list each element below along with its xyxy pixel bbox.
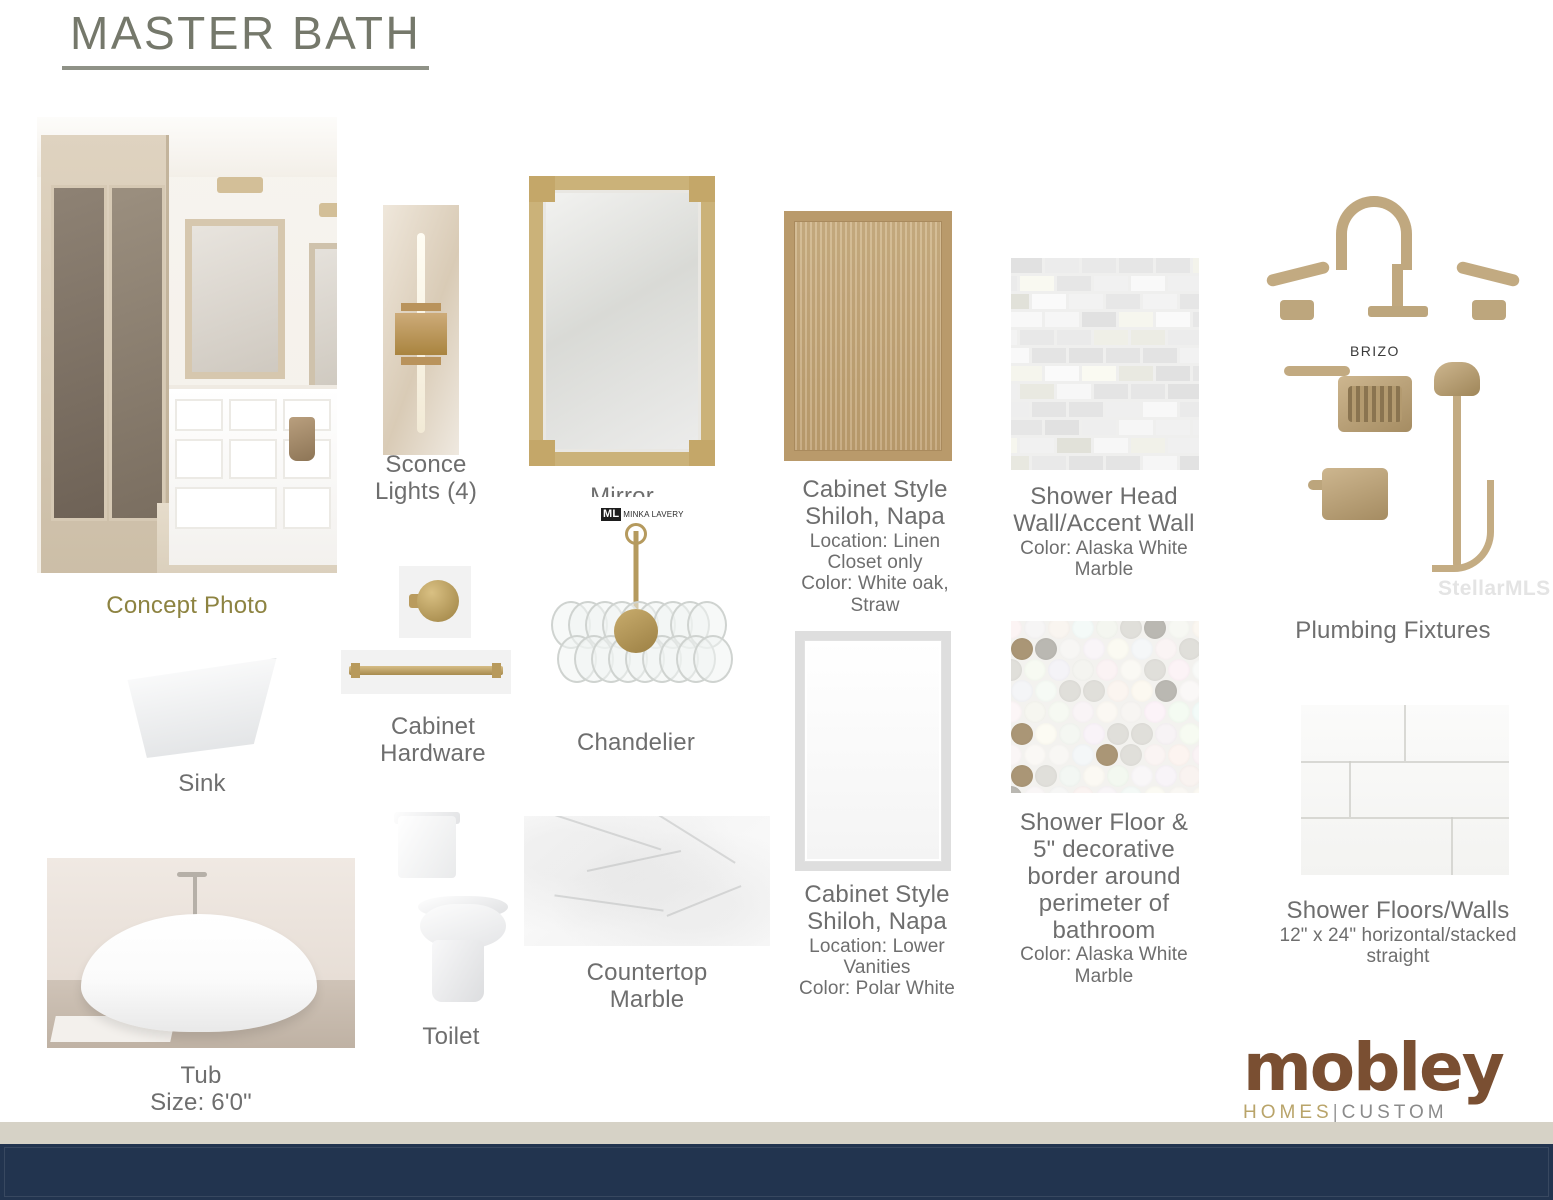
mobley-custom-text: CUSTOM	[1342, 1102, 1448, 1123]
tub-label: Tub Size: 6'0"	[47, 1063, 355, 1117]
countertop-marble-image	[524, 816, 770, 946]
page-title: MASTER BATH	[62, 6, 429, 70]
shower-head-wall-label: Shower Head Wall/Accent Wall Color: Alas…	[1000, 484, 1208, 580]
plumbing-fixtures-image	[1248, 180, 1538, 598]
countertop-label: Countertop Marble	[524, 960, 770, 1014]
chandelier-label: Chandelier	[527, 730, 745, 757]
accent-wall-tile-image	[1011, 258, 1199, 470]
concept-photo-image	[37, 117, 337, 573]
mirror-image	[529, 176, 715, 466]
sink-label: Sink	[113, 771, 291, 798]
tub-image	[47, 858, 355, 1048]
shower-floors-walls-label: Shower Floors/Walls 12" x 24" horizontal…	[1248, 898, 1548, 967]
shower-floors-walls-tile-image	[1301, 705, 1509, 875]
toilet-label: Toilet	[392, 1024, 510, 1051]
footer-beige-bar	[0, 1122, 1553, 1144]
stellarmls-watermark: StellarMLS	[1438, 577, 1551, 601]
shower-floor-tile-image	[1011, 621, 1199, 793]
sink-image	[113, 650, 291, 768]
mobley-logo: mobley HOMES|CUSTOM	[1243, 1037, 1533, 1124]
cabinet-pull-image	[341, 650, 511, 694]
chandelier-image	[527, 497, 745, 712]
mobley-homes-text: HOMES	[1243, 1102, 1333, 1123]
sconce-label: Sconce Lights (4)	[341, 452, 511, 506]
brizo-brand-label: BRIZO	[1350, 343, 1400, 359]
minka-lavery-watermark: ML MINKA LAVERY	[601, 508, 684, 521]
footer-navy-bar	[0, 1144, 1553, 1200]
mobley-wordmark: mobley	[1243, 1037, 1533, 1100]
cabinet-vanity-door-image	[795, 631, 951, 871]
concept-photo-label: Concept Photo	[37, 593, 337, 620]
mobley-separator: |	[1333, 1102, 1342, 1123]
cabinet-hardware-label: Cabinet Hardware	[341, 714, 525, 768]
shower-floor-label: Shower Floor & 5" decorative border arou…	[1000, 810, 1208, 987]
cabinet-knob-image	[399, 566, 471, 638]
cabinet-linen-door-image	[784, 211, 952, 461]
design-board: MASTER BATH Concept Photo Sink	[0, 0, 1553, 1200]
toilet-image	[392, 812, 510, 1008]
sconce-light-image	[383, 205, 459, 455]
cabinet-vanity-label: Cabinet Style Shiloh, Napa Location: Low…	[779, 882, 975, 1000]
cabinet-linen-label: Cabinet Style Shiloh, Napa Location: Lin…	[779, 477, 971, 616]
plumbing-fixtures-label: Plumbing Fixtures	[1248, 618, 1538, 645]
